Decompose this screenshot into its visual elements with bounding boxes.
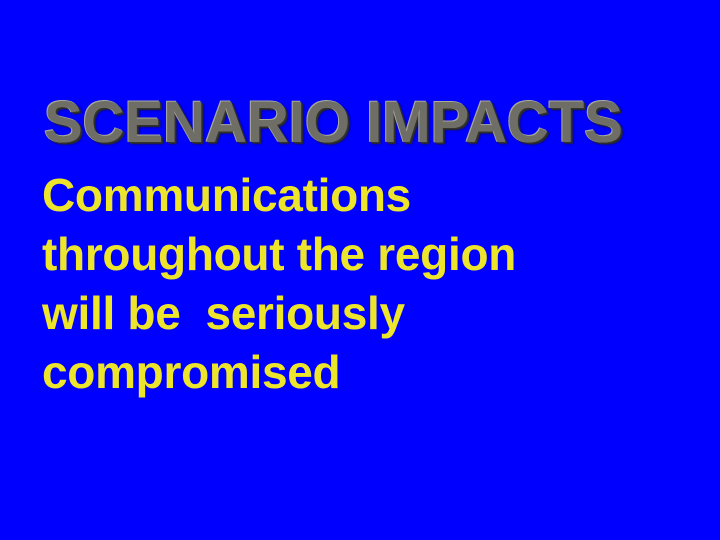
slide-title-container: SCENARIO IMPACTS <box>44 92 684 154</box>
body-line-1: Communications <box>42 166 692 225</box>
slide-title: SCENARIO IMPACTS <box>44 92 684 154</box>
body-line-4: compromised <box>42 343 692 402</box>
body-line-3: will be seriously <box>42 284 692 343</box>
slide-body-container: Communications throughout the region wil… <box>42 166 692 402</box>
presentation-slide: SCENARIO IMPACTS Communications througho… <box>0 0 720 540</box>
body-line-2: throughout the region <box>42 225 692 284</box>
